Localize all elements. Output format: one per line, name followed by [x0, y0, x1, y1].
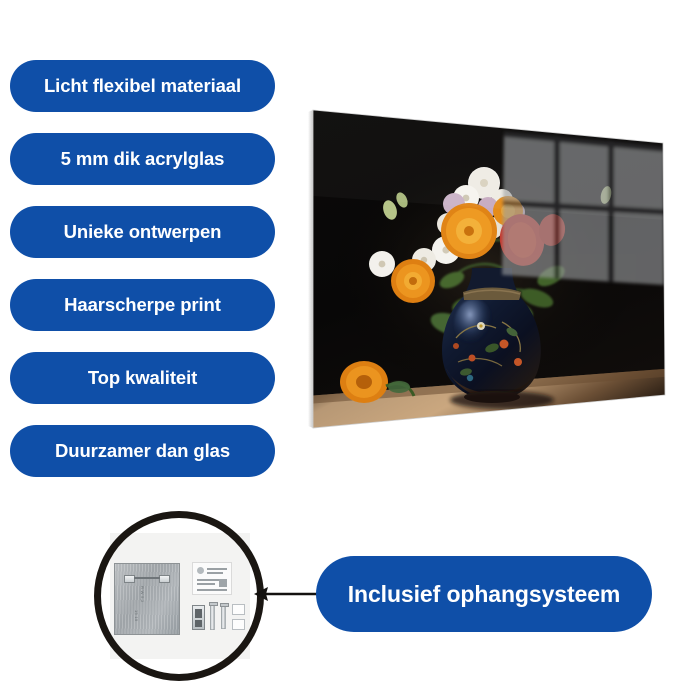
feature-pill-label: Haarscherpe print	[64, 296, 221, 315]
feature-pill-label: 5 mm dik acrylglas	[61, 150, 225, 169]
artwork-image	[306, 100, 676, 445]
feature-pill-label: Unieke ontwerpen	[64, 223, 222, 242]
product-feature-graphic: Licht flexibel materiaal 5 mm dik acrylg…	[0, 0, 700, 700]
feature-pill-duurzamer-dan-glas[interactable]: Duurzamer dan glas	[10, 425, 275, 477]
feature-pill-haarscherpe-print[interactable]: Haarscherpe print	[10, 279, 275, 331]
mounting-hardware-circle: R W 5,2 15 15	[94, 511, 264, 681]
acrylic-edge-left	[308, 110, 313, 428]
feature-pill-unieke-ontwerpen[interactable]: Unieke ontwerpen	[10, 206, 275, 258]
vase-shadow	[450, 391, 554, 409]
callout-pill-label: Inclusief ophangsysteem	[348, 583, 621, 606]
callout-arrow-connector	[250, 580, 324, 608]
feature-pill-5-mm-dik-acrylglas[interactable]: 5 mm dik acrylglas	[10, 133, 275, 185]
feature-pill-label: Duurzamer dan glas	[55, 442, 230, 461]
arrow-head-icon	[254, 587, 268, 601]
feature-pill-label: Top kwaliteit	[88, 369, 197, 388]
artwork-svg	[306, 100, 676, 445]
feature-pill-licht-flexibel-materiaal[interactable]: Licht flexibel materiaal	[10, 60, 275, 112]
acrylic-artwork-panel	[306, 100, 676, 445]
circle-outline	[94, 511, 264, 681]
feature-pill-top-kwaliteit[interactable]: Top kwaliteit	[10, 352, 275, 404]
callout-pill-inclusief-ophangsysteem[interactable]: Inclusief ophangsysteem	[316, 556, 652, 632]
feature-pill-label: Licht flexibel materiaal	[44, 77, 241, 96]
